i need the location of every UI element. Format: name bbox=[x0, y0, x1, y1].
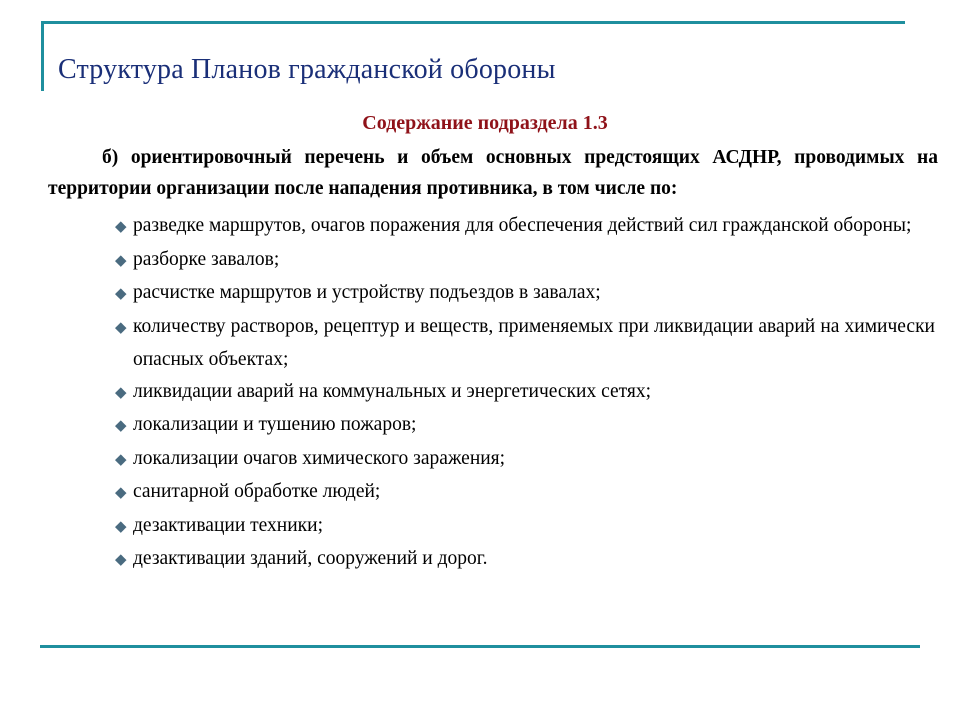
list-item-label: локализации и тушению пожаров; bbox=[133, 414, 416, 435]
list-item: ◆локализации и тушению пожаров; bbox=[0, 409, 960, 443]
list-item-label: локализации очагов химического заражения… bbox=[133, 448, 505, 469]
list-item-label: разборке завалов; bbox=[133, 249, 279, 270]
page-title: Структура Планов гражданской обороны bbox=[58, 53, 878, 87]
list-item-label: разведке маршрутов, очагов поражения для… bbox=[133, 215, 911, 236]
list-item: ◆ликвидации аварий на коммунальных и эне… bbox=[0, 376, 960, 410]
title-left-rule bbox=[41, 21, 44, 91]
diamond-bullet-icon: ◆ bbox=[115, 313, 133, 345]
list-item: ◆дезактивации техники; bbox=[0, 510, 960, 544]
section-heading: Содержание подраздела 1.3 bbox=[0, 110, 960, 136]
list-item-label: санитарной обработке людей; bbox=[133, 481, 380, 502]
diamond-bullet-icon: ◆ bbox=[115, 478, 133, 510]
list-item-label: расчистке маршрутов и устройству подъезд… bbox=[133, 282, 601, 303]
diamond-bullet-icon: ◆ bbox=[115, 378, 133, 410]
diamond-bullet-icon: ◆ bbox=[115, 279, 133, 311]
diamond-bullet-icon: ◆ bbox=[115, 246, 133, 278]
diamond-bullet-icon: ◆ bbox=[115, 411, 133, 443]
diamond-bullet-icon: ◆ bbox=[115, 512, 133, 544]
list-item: ◆разборке завалов; bbox=[0, 244, 960, 278]
list-item-label: дезактивации зданий, сооружений и дорог. bbox=[133, 548, 487, 569]
list-item-label: ликвидации аварий на коммунальных и энер… bbox=[133, 381, 651, 402]
list-item: ◆количеству растворов, рецептур и вещест… bbox=[0, 311, 960, 376]
list-item: ◆локализации очагов химического заражени… bbox=[0, 443, 960, 477]
bullet-list: ◆разведке маршрутов, очагов поражения дл… bbox=[0, 210, 960, 577]
bottom-rule bbox=[40, 645, 920, 648]
diamond-bullet-icon: ◆ bbox=[115, 445, 133, 477]
slide-content: Содержание подраздела 1.3 б) ориентирово… bbox=[0, 110, 960, 577]
list-item: ◆дезактивации зданий, сооружений и дорог… bbox=[0, 543, 960, 577]
list-item-label: количеству растворов, рецептур и веществ… bbox=[133, 316, 935, 371]
lead-paragraph: б) ориентировочный перечень и объем осно… bbox=[0, 142, 960, 204]
title-top-rule bbox=[41, 21, 905, 24]
slide-canvas: Структура Планов гражданской обороны Сод… bbox=[0, 0, 960, 720]
diamond-bullet-icon: ◆ bbox=[115, 212, 133, 244]
diamond-bullet-icon: ◆ bbox=[115, 545, 133, 577]
list-item: ◆расчистке маршрутов и устройству подъез… bbox=[0, 277, 960, 311]
list-item: ◆разведке маршрутов, очагов поражения дл… bbox=[0, 210, 960, 244]
list-item: ◆санитарной обработке людей; bbox=[0, 476, 960, 510]
list-item-label: дезактивации техники; bbox=[133, 515, 323, 536]
